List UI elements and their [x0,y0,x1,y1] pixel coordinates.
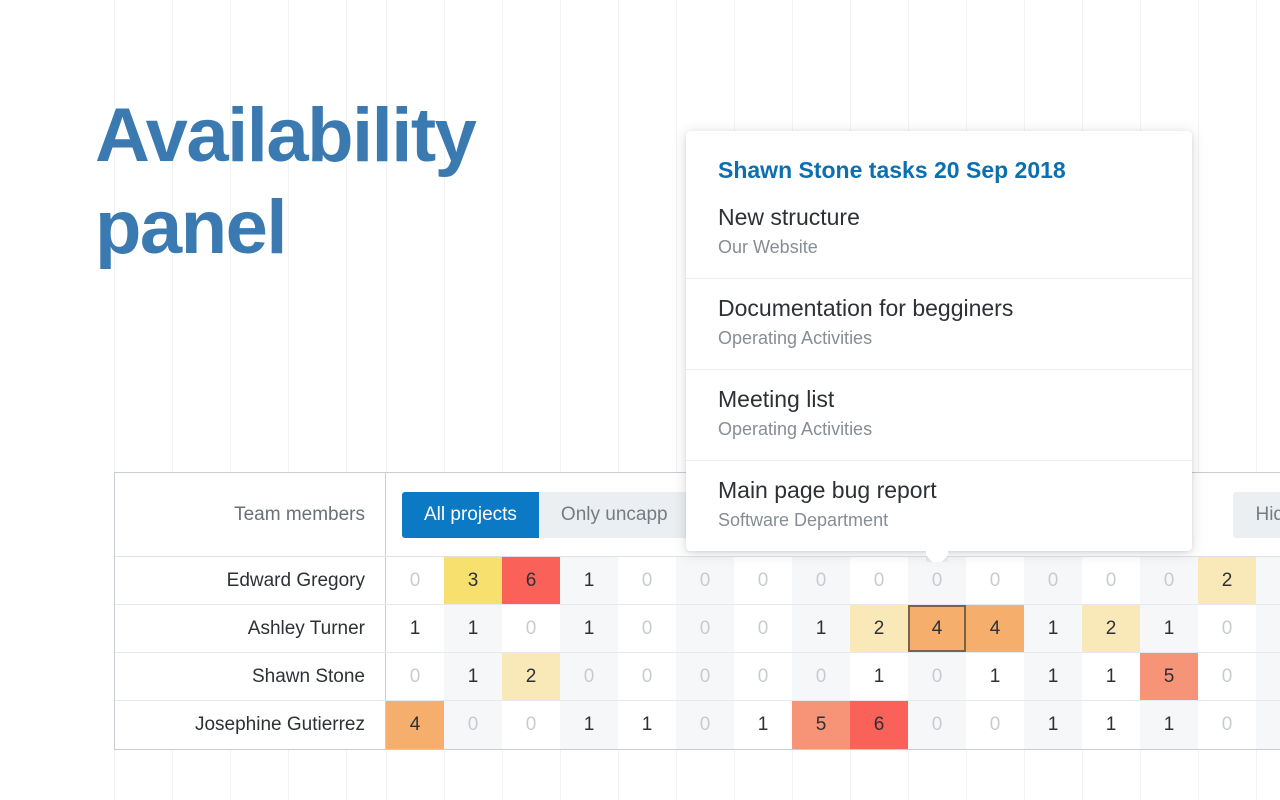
availability-cell[interactable]: 0 [1082,557,1140,604]
availability-cell[interactable]: 1 [1082,653,1140,700]
availability-cell[interactable]: 1 [444,605,502,652]
availability-cell[interactable]: 3 [444,557,502,604]
availability-cell[interactable]: 1 [792,605,850,652]
tooltip-task-item[interactable]: Main page bug reportSoftware Department [686,460,1192,551]
availability-cell[interactable]: 0 [1256,605,1280,652]
tooltip-task-project: Operating Activities [718,328,1160,349]
page-title-line1: Availability [95,90,655,182]
availability-cell[interactable]: 0 [734,605,792,652]
availability-cell[interactable]: 0 [792,653,850,700]
availability-cell[interactable]: 0 [676,557,734,604]
availability-cell[interactable]: 1 [1140,701,1198,749]
row-cells: 0120000010111500 [386,653,1280,700]
table-row: Shawn Stone0120000010111500 [115,653,1280,701]
row-cells: 1101000124412100 [386,605,1280,652]
availability-cell[interactable]: 0 [676,605,734,652]
availability-cell[interactable]: 1 [850,653,908,700]
filter-only-uncapped[interactable]: Only uncapp [539,492,690,538]
member-name[interactable]: Edward Gregory [115,557,386,604]
availability-cell[interactable]: 0 [908,653,966,700]
tooltip-task-list: New structureOur WebsiteDocumentation fo… [686,200,1192,551]
member-name[interactable]: Shawn Stone [115,653,386,700]
availability-cell[interactable]: 0 [618,653,676,700]
filter-all-projects[interactable]: All projects [402,492,539,538]
availability-cell[interactable]: 6 [502,557,560,604]
row-cells: 0361000000000020 [386,557,1280,604]
availability-cell[interactable]: 0 [734,653,792,700]
page-title-line2: panel [95,182,655,274]
availability-cell[interactable]: 0 [386,653,444,700]
member-name[interactable]: Ashley Turner [115,605,386,652]
availability-cell[interactable]: 1 [1024,605,1082,652]
availability-cell[interactable]: 1 [1024,653,1082,700]
availability-cell[interactable]: 0 [618,605,676,652]
availability-cell[interactable]: 1 [1140,605,1198,652]
availability-cell[interactable]: 0 [1198,701,1256,749]
availability-cell[interactable]: 1 [560,557,618,604]
availability-cell[interactable]: 2 [1198,557,1256,604]
availability-cell[interactable]: 2 [850,605,908,652]
availability-cell[interactable]: 0 [1140,557,1198,604]
availability-cell[interactable]: 0 [908,557,966,604]
project-filter-group[interactable]: All projects Only uncapp [402,492,690,538]
availability-cell[interactable]: 1 [560,701,618,749]
availability-cell[interactable]: 1 [966,653,1024,700]
availability-cell[interactable]: 0 [1256,701,1280,749]
availability-cell[interactable]: 5 [1140,653,1198,700]
availability-cell[interactable]: 0 [502,701,560,749]
task-tooltip: Shawn Stone tasks 20 Sep 2018 New struct… [686,131,1192,551]
table-row: Ashley Turner1101000124412100 [115,605,1280,653]
tooltip-task-project: Operating Activities [718,419,1160,440]
availability-cell[interactable]: 5 [792,701,850,749]
availability-cell[interactable]: 1 [560,605,618,652]
availability-cell[interactable]: 4 [386,701,444,749]
tooltip-task-name: New structure [718,204,1160,231]
page-title: Availability panel [95,90,655,274]
availability-cell[interactable]: 6 [850,701,908,749]
availability-cell[interactable]: 0 [676,653,734,700]
availability-cell[interactable]: 0 [966,701,1024,749]
hide-button[interactable]: Hid [1233,492,1280,538]
availability-cell[interactable]: 0 [560,653,618,700]
availability-cell[interactable]: 4 [966,605,1024,652]
availability-cell[interactable]: 0 [618,557,676,604]
availability-cell[interactable]: 0 [966,557,1024,604]
member-name[interactable]: Josephine Gutierrez [115,701,386,749]
tooltip-task-name: Main page bug report [718,477,1160,504]
availability-cell[interactable]: 0 [1024,557,1082,604]
team-members-header: Team members [115,473,386,556]
tooltip-task-item[interactable]: New structureOur Website [686,200,1192,278]
table-row: Josephine Gutierrez4001101560011100 [115,701,1280,749]
availability-cell[interactable]: 1 [444,653,502,700]
availability-cell[interactable]: 0 [386,557,444,604]
availability-cell[interactable]: 0 [1198,653,1256,700]
availability-cell[interactable]: 0 [1256,653,1280,700]
availability-cell[interactable]: 1 [1082,701,1140,749]
availability-cell[interactable]: 2 [1082,605,1140,652]
availability-cell[interactable]: 1 [618,701,676,749]
row-cells: 4001101560011100 [386,701,1280,749]
availability-cell[interactable]: 2 [502,653,560,700]
tooltip-header: Shawn Stone tasks 20 Sep 2018 [686,131,1192,200]
availability-cell[interactable]: 1 [1024,701,1082,749]
availability-cell[interactable]: 0 [1256,557,1280,604]
table-row: Edward Gregory0361000000000020 [115,557,1280,605]
availability-cell[interactable]: 0 [734,557,792,604]
availability-cell[interactable]: 0 [908,701,966,749]
availability-cell[interactable]: 0 [444,701,502,749]
tooltip-task-item[interactable]: Meeting listOperating Activities [686,369,1192,460]
availability-cell[interactable]: 0 [676,701,734,749]
availability-cell[interactable]: 1 [386,605,444,652]
tooltip-task-project: Our Website [718,237,1160,258]
tooltip-task-name: Meeting list [718,386,1160,413]
table-body: Edward Gregory0361000000000020Ashley Tur… [115,557,1280,749]
availability-cell[interactable]: 0 [1198,605,1256,652]
availability-cell[interactable]: 0 [792,557,850,604]
tooltip-task-project: Software Department [718,510,1160,531]
availability-cell[interactable]: 0 [850,557,908,604]
tooltip-task-item[interactable]: Documentation for begginersOperating Act… [686,278,1192,369]
availability-cell[interactable]: 1 [734,701,792,749]
tooltip-arrow [926,551,948,562]
tooltip-task-name: Documentation for begginers [718,295,1160,322]
availability-cell[interactable]: 0 [502,605,560,652]
availability-cell[interactable]: 4 [908,605,966,652]
